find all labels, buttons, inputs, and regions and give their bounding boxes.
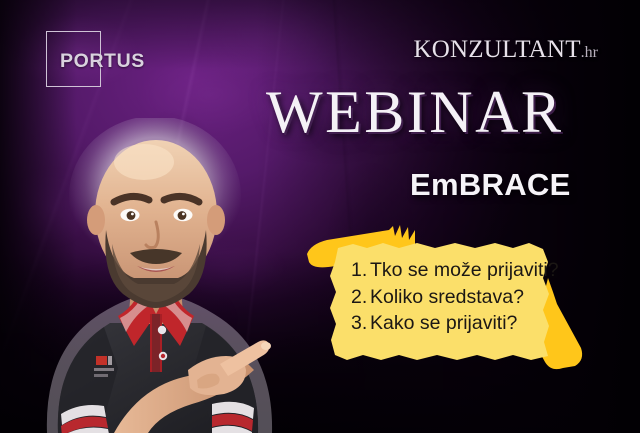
list-item-number: 3. <box>351 310 370 337</box>
webinar-promo-banner: PORTUS KONZULTANT.hr WEBINAR EmBRACE <box>0 0 640 433</box>
list-item-number: 2. <box>351 284 370 311</box>
list-item: 2. Koliko sredstava? <box>351 284 559 311</box>
question-list: 1. Tko se može prijaviti? 2. Koliko sred… <box>351 257 559 337</box>
portus-logo: PORTUS <box>46 31 154 91</box>
konzultant-logo-name: KONZULTANT <box>414 36 581 63</box>
list-item-label: Tko se može prijaviti? <box>370 257 559 284</box>
portus-logo-label: PORTUS <box>60 50 145 73</box>
presenter-photo <box>0 118 322 433</box>
konzultant-logo: KONZULTANT.hr <box>414 36 598 64</box>
list-item: 1. Tko se može prijaviti? <box>351 257 559 284</box>
konzultant-logo-tld: .hr <box>581 44 598 61</box>
list-item: 3. Kako se prijaviti? <box>351 310 559 337</box>
list-item-number: 1. <box>351 257 370 284</box>
webinar-subtitle: EmBRACE <box>410 167 571 203</box>
list-item-label: Koliko sredstava? <box>370 284 524 311</box>
list-item-label: Kako se prijaviti? <box>370 310 517 337</box>
question-note: 1. Tko se može prijaviti? 2. Koliko sred… <box>305 222 625 372</box>
